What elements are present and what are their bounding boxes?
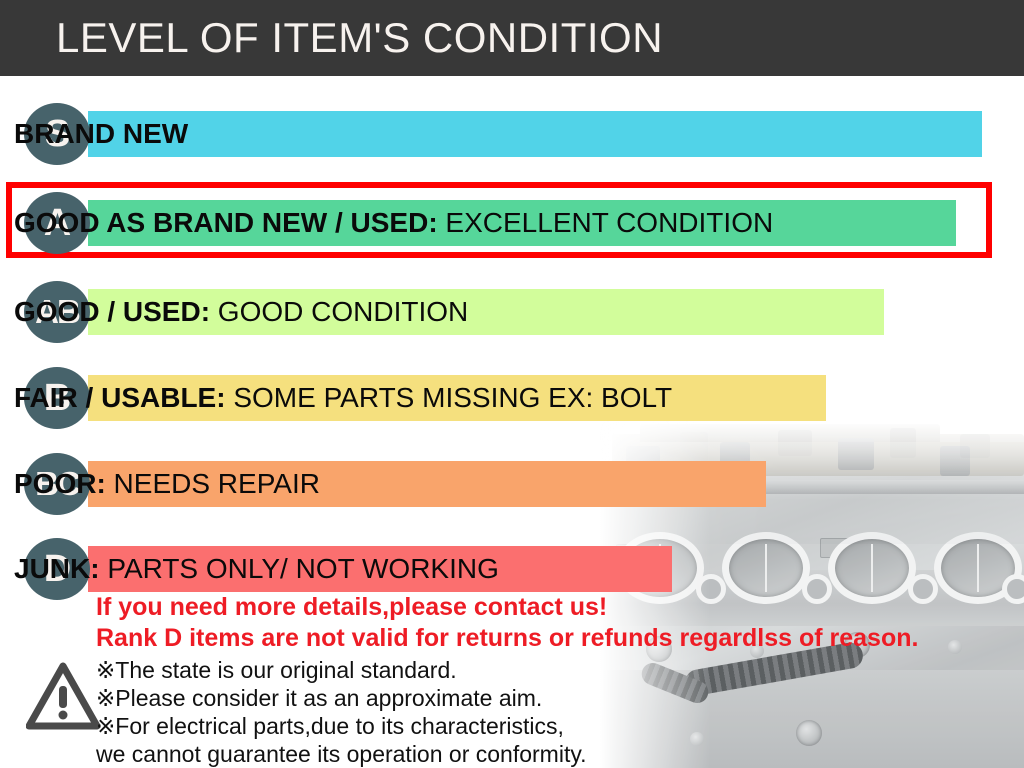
rank-label-bold: GOOD / USED: — [14, 296, 210, 327]
rank-label-light: SOME PARTS MISSING EX: BOLT — [226, 382, 673, 413]
notes-text-block: ※The state is our original standard. ※Pl… — [96, 656, 587, 768]
rank-row-bc: BC POOR: NEEDS REPAIR — [0, 453, 1024, 515]
rank-label-light: GOOD CONDITION — [210, 296, 468, 327]
header-bar: LEVEL OF ITEM'S CONDITION — [0, 0, 1024, 76]
warning-line: Rank D items are not valid for returns o… — [96, 623, 918, 654]
rank-row-d: D JUNK: PARTS ONLY/ NOT WORKING — [0, 538, 1024, 600]
rank-label-light: EXCELLENT CONDITION — [438, 207, 774, 238]
rank-label-light: NEEDS REPAIR — [106, 468, 320, 499]
note-line: ※For electrical parts,due to its charact… — [96, 712, 587, 740]
rank-label-bc: POOR: NEEDS REPAIR — [14, 468, 320, 500]
page-title: LEVEL OF ITEM'S CONDITION — [56, 14, 663, 62]
rank-label-b: FAIR / USABLE: SOME PARTS MISSING EX: BO… — [14, 382, 672, 414]
note-line: ※Please consider it as an approximate ai… — [96, 684, 587, 712]
rank-row-a: AGOOD AS BRAND NEW / USED: EXCELLENT CON… — [0, 192, 1024, 254]
rank-label-bold: FAIR / USABLE: — [14, 382, 226, 413]
note-line: ※The state is our original standard. — [96, 656, 587, 684]
rank-label-light: PARTS ONLY/ NOT WORKING — [100, 553, 499, 584]
rank-label-ab: GOOD / USED: GOOD CONDITION — [14, 296, 468, 328]
rank-label-bold: JUNK: — [14, 553, 100, 584]
note-line: we cannot guarantee its operation or con… — [96, 740, 587, 768]
rank-label-d: JUNK: PARTS ONLY/ NOT WORKING — [14, 553, 499, 585]
condition-level-infographic: LEVEL OF ITEM'S CONDITION SBRAND NEWAGOO… — [0, 0, 1024, 768]
rank-row-b: B FAIR / USABLE: SOME PARTS MISSING EX: … — [0, 367, 1024, 429]
rank-row-ab: ABGOOD / USED: GOOD CONDITION — [0, 281, 1024, 343]
rank-row-s: SBRAND NEW — [0, 103, 1024, 165]
rank-label-bold: GOOD AS BRAND NEW / USED: — [14, 207, 438, 238]
rank-label-s: BRAND NEW — [14, 118, 188, 150]
rank-label-a: GOOD AS BRAND NEW / USED: EXCELLENT COND… — [14, 207, 773, 239]
warning-text-block: If you need more details,please contact … — [96, 592, 918, 654]
rank-bar-s — [88, 111, 982, 157]
warning-line: If you need more details,please contact … — [96, 592, 918, 623]
rank-label-bold: POOR: — [14, 468, 106, 499]
rank-label-bold: BRAND NEW — [14, 118, 188, 149]
warning-triangle-icon — [26, 662, 100, 730]
